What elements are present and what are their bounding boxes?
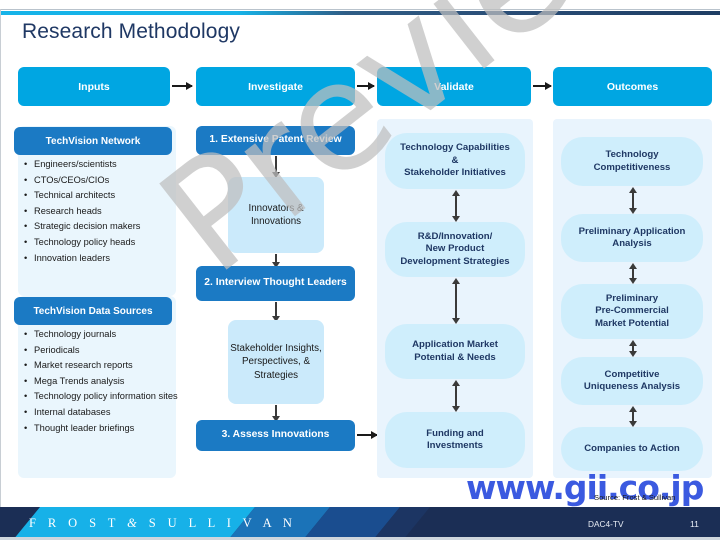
output-innovators-and-innovations: Innovators & Innovations xyxy=(228,177,324,253)
frost-sullivan-logo: F R O S T & S U L L I V A N xyxy=(29,516,296,531)
arrow-output2-to-step3 xyxy=(275,405,277,417)
list-item: •Technology policy heads xyxy=(24,238,192,247)
bullet-dot-icon: • xyxy=(24,238,34,247)
arrow-validate-to-outcomes xyxy=(533,85,551,87)
list-item-label: Innovation leaders xyxy=(34,254,192,263)
output-stakeholder-insights: Stakeholder Insights, Perspectives, & St… xyxy=(228,320,324,404)
source-note: Source: Frost & Sullivan xyxy=(594,493,675,502)
outcome-preliminary-application-analysis[interactable]: Preliminary ApplicationAnalysis xyxy=(561,214,703,262)
list-item-label: Technical architects xyxy=(34,191,192,200)
brand-last: S U L L I V A N xyxy=(149,516,297,530)
list-item-label: Thought leader briefings xyxy=(34,424,192,433)
left-edge-line xyxy=(0,9,1,507)
brand-ampersand: & xyxy=(127,516,141,530)
bidirectional-arrow xyxy=(632,411,634,422)
stage-header-investigate[interactable]: Investigate xyxy=(196,67,355,106)
outcome-competitive-uniqueness-analysis[interactable]: CompetitiveUniqueness Analysis xyxy=(561,357,703,405)
list-item: •Innovation leaders xyxy=(24,254,192,263)
bullet-dot-icon: • xyxy=(24,361,34,370)
slide-canvas: Research Methodology Inputs Investigate … xyxy=(0,0,720,540)
techvision-network-list: •Engineers/scientists •CTOs/CEOs/CIOs •T… xyxy=(24,160,192,269)
list-item-label: Technology policy information sites xyxy=(34,392,192,401)
bidirectional-arrow xyxy=(455,283,457,319)
outcome-companies-to-action[interactable]: Companies to Action xyxy=(561,427,703,471)
validate-item-rnd-innovation[interactable]: R&D/Innovation/New ProductDevelopment St… xyxy=(385,222,525,277)
step-extensive-patent-review[interactable]: 1. Extensive Patent Review xyxy=(196,126,355,155)
top-accent-bar xyxy=(0,11,720,15)
bidirectional-arrow xyxy=(632,345,634,352)
bullet-dot-icon: • xyxy=(24,160,34,169)
bullet-dot-icon: • xyxy=(24,424,34,433)
list-item: •Technology policy information sites xyxy=(24,392,192,401)
techvision-network-header: TechVision Network xyxy=(14,127,172,155)
stage-header-inputs[interactable]: Inputs xyxy=(18,67,170,106)
bullet-dot-icon: • xyxy=(24,207,34,216)
page-title: Research Methodology xyxy=(22,20,240,44)
bidirectional-arrow xyxy=(632,192,634,209)
list-item: •Technology journals xyxy=(24,330,192,339)
document-code: DAC4-TV xyxy=(588,519,624,529)
step-assess-innovations[interactable]: 3. Assess Innovations xyxy=(196,420,355,451)
list-item-label: Strategic decision makers xyxy=(34,222,192,231)
arrow-step1-to-output1 xyxy=(275,156,277,173)
list-item: •Technical architects xyxy=(24,191,192,200)
list-item-label: Mega Trends analysis xyxy=(34,377,192,386)
validate-item-technology-capabilities[interactable]: Technology Capabilities&Stakeholder Init… xyxy=(385,133,525,189)
step-interview-thought-leaders[interactable]: 2. Interview Thought Leaders xyxy=(196,266,355,301)
list-item: •Strategic decision makers xyxy=(24,222,192,231)
list-item-label: Research heads xyxy=(34,207,192,216)
bidirectional-arrow xyxy=(455,385,457,407)
outcome-technology-competitiveness[interactable]: TechnologyCompetitiveness xyxy=(561,137,703,186)
bullet-dot-icon: • xyxy=(24,176,34,185)
bullet-dot-icon: • xyxy=(24,346,34,355)
arrow-step2-to-output2 xyxy=(275,302,277,317)
top-hairline xyxy=(0,9,720,10)
list-item-label: Market research reports xyxy=(34,361,192,370)
bidirectional-arrow xyxy=(632,268,634,279)
list-item-label: Technology journals xyxy=(34,330,192,339)
list-item: •CTOs/CEOs/CIOs xyxy=(24,176,192,185)
list-item: •Market research reports xyxy=(24,361,192,370)
stage-header-outcomes[interactable]: Outcomes xyxy=(553,67,712,106)
bidirectional-arrow xyxy=(455,195,457,217)
list-item-label: CTOs/CEOs/CIOs xyxy=(34,176,192,185)
arrow-inputs-to-investigate xyxy=(172,85,192,87)
validate-item-application-market[interactable]: Application MarketPotential & Needs xyxy=(385,324,525,379)
list-item: •Internal databases xyxy=(24,408,192,417)
list-item-label: Technology policy heads xyxy=(34,238,192,247)
techvision-data-sources-header: TechVision Data Sources xyxy=(14,297,172,325)
bullet-dot-icon: • xyxy=(24,254,34,263)
brand-first: F R O S T xyxy=(29,516,120,530)
list-item-label: Internal databases xyxy=(34,408,192,417)
list-item: •Engineers/scientists xyxy=(24,160,192,169)
arrow-investigate-to-validate xyxy=(357,85,374,87)
validate-item-funding-investments[interactable]: Funding andInvestments xyxy=(385,412,525,468)
list-item-label: Periodicals xyxy=(34,346,192,355)
page-number: 11 xyxy=(690,519,699,529)
techvision-data-sources-list: •Technology journals •Periodicals •Marke… xyxy=(24,330,192,439)
list-item: •Mega Trends analysis xyxy=(24,377,192,386)
list-item-label: Engineers/scientists xyxy=(34,160,192,169)
bullet-dot-icon: • xyxy=(24,408,34,417)
bullet-dot-icon: • xyxy=(24,377,34,386)
bullet-dot-icon: • xyxy=(24,191,34,200)
list-item: •Research heads xyxy=(24,207,192,216)
stage-header-validate[interactable]: Validate xyxy=(377,67,531,106)
outcome-preliminary-pre-commercial-market-potential[interactable]: PreliminaryPre-CommercialMarket Potentia… xyxy=(561,284,703,339)
arrow-assess-to-validate xyxy=(357,434,377,436)
list-item: •Thought leader briefings xyxy=(24,424,192,433)
list-item: •Periodicals xyxy=(24,346,192,355)
bullet-dot-icon: • xyxy=(24,330,34,339)
bullet-dot-icon: • xyxy=(24,392,34,401)
bullet-dot-icon: • xyxy=(24,222,34,231)
arrow-output1-to-step2 xyxy=(275,254,277,263)
